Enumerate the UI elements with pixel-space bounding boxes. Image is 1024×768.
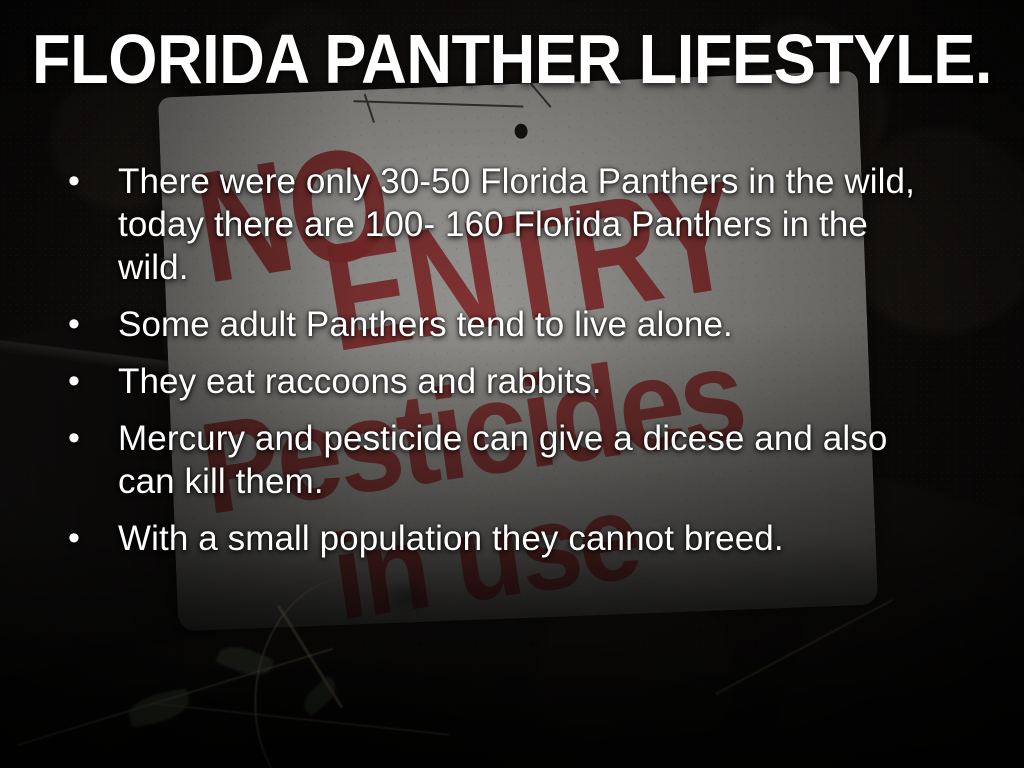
list-item: • They eat raccoons and rabbits. [60, 360, 960, 403]
list-item-text: There were only 30-50 Florida Panthers i… [118, 160, 928, 289]
bullet-marker-icon: • [60, 517, 118, 560]
slide-canvas: NO ENTRY Pesticides in use FLORIDA PANTH… [0, 0, 1024, 768]
bullet-list: • There were only 30-50 Florida Panthers… [60, 160, 960, 574]
bullet-marker-icon: • [60, 160, 118, 203]
list-item-text: Some adult Panthers tend to live alone. [118, 303, 928, 346]
list-item: • Mercury and pesticide can give a dices… [60, 417, 960, 503]
list-item: • There were only 30-50 Florida Panthers… [60, 160, 960, 289]
list-item: • Some adult Panthers tend to live alone… [60, 303, 960, 346]
list-item-text: With a small population they cannot bree… [118, 517, 928, 560]
bullet-marker-icon: • [60, 360, 118, 403]
slide-title: FLORIDA PANTHER LIFESTYLE. [0, 26, 1024, 95]
list-item-text: Mercury and pesticide can give a dicese … [118, 417, 928, 503]
list-item-text: They eat raccoons and rabbits. [118, 360, 928, 403]
bullet-marker-icon: • [60, 303, 118, 346]
list-item: • With a small population they cannot br… [60, 517, 960, 560]
bullet-marker-icon: • [60, 417, 118, 460]
